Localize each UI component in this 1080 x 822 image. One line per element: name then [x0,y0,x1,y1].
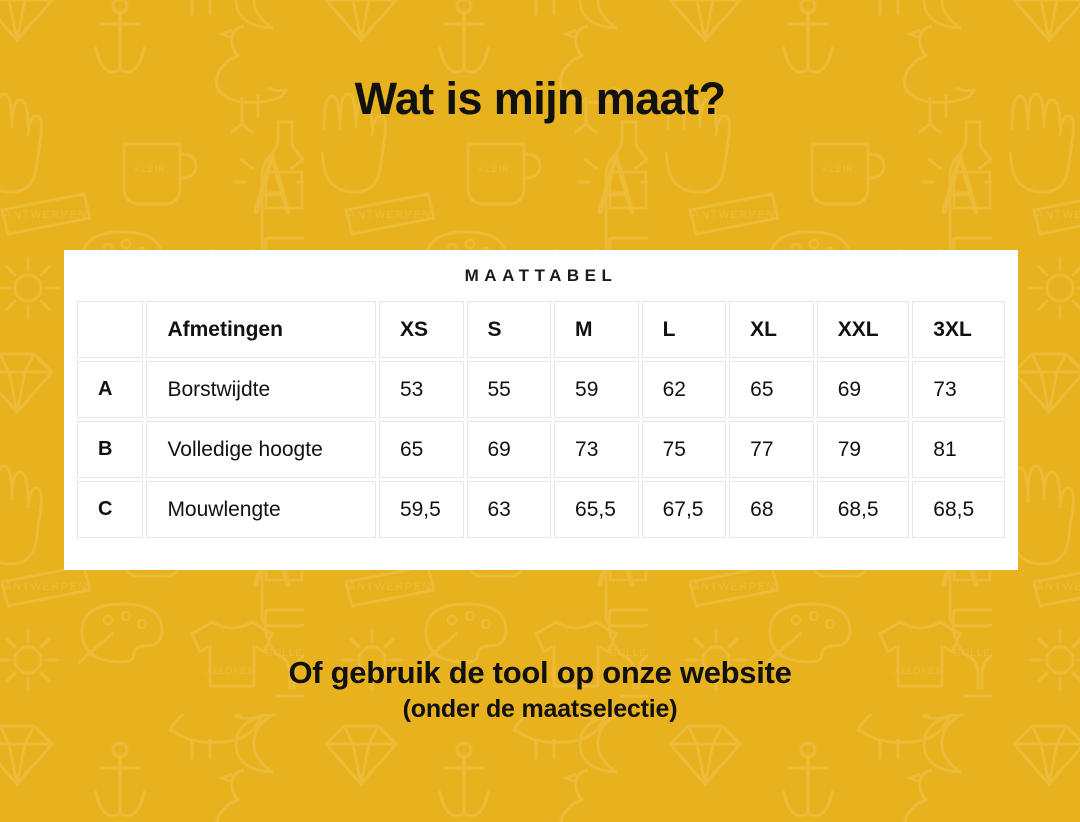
page-title: Wat is mijn maat? [355,74,726,124]
cell-a-3xl: 73 [912,361,1005,418]
cell-b-s: 69 [467,421,552,478]
column-header-l: L [642,301,727,358]
cell-c-xxl: 68,5 [817,481,910,538]
size-chart-card: MAATTABEL Afmetingen XS S M L XL XXL 3XL… [64,250,1018,570]
size-table-body: A Borstwijdte 53 55 59 62 65 69 73 B Vol… [77,361,1005,538]
cell-c-l: 67,5 [642,481,727,538]
column-header-s: S [467,301,552,358]
cell-a-m: 59 [554,361,639,418]
column-header-xs: XS [379,301,464,358]
row-letter-c: C [77,481,143,538]
table-row: A Borstwijdte 53 55 59 62 65 69 73 [77,361,1005,418]
row-letter-a: A [77,361,143,418]
cell-a-l: 62 [642,361,727,418]
row-label-b: Volledige hoogte [146,421,376,478]
cell-c-xs: 59,5 [379,481,464,538]
column-header-dimensions: Afmetingen [146,301,376,358]
cell-c-3xl: 68,5 [912,481,1005,538]
footer-line-secondary: (onder de maatselectie) [0,694,1080,725]
cell-b-3xl: 81 [912,421,1005,478]
column-header-xxl: XXL [817,301,910,358]
cell-a-s: 55 [467,361,552,418]
table-row: C Mouwlengte 59,5 63 65,5 67,5 68 68,5 6… [77,481,1005,538]
column-header-xl: XL [729,301,814,358]
row-label-a: Borstwijdte [146,361,376,418]
cell-b-m: 73 [554,421,639,478]
cell-c-xl: 68 [729,481,814,538]
cell-b-xxl: 79 [817,421,910,478]
footer-line-primary: Of gebruik de tool op onze website [0,655,1080,691]
cell-a-xxl: 69 [817,361,910,418]
page-root: Wat is mijn maat? MAATTABEL Afmetingen X… [0,0,1080,822]
column-header-3xl: 3XL [912,301,1005,358]
card-heading: MAATTABEL [465,266,618,286]
table-row: B Volledige hoogte 65 69 73 75 77 79 81 [77,421,1005,478]
table-header-row: Afmetingen XS S M L XL XXL 3XL [77,301,1005,358]
cell-b-l: 75 [642,421,727,478]
cell-a-xs: 53 [379,361,464,418]
cell-c-m: 65,5 [554,481,639,538]
cell-c-s: 63 [467,481,552,538]
row-letter-b: B [77,421,143,478]
column-header-letter [77,301,143,358]
cell-b-xl: 77 [729,421,814,478]
size-table: Afmetingen XS S M L XL XXL 3XL A Borstwi… [74,298,1008,541]
cell-b-xs: 65 [379,421,464,478]
row-label-c: Mouwlengte [146,481,376,538]
footer-note: Of gebruik de tool op onze website (onde… [0,655,1080,725]
size-table-head: Afmetingen XS S M L XL XXL 3XL [77,301,1005,358]
cell-a-xl: 65 [729,361,814,418]
column-header-m: M [554,301,639,358]
